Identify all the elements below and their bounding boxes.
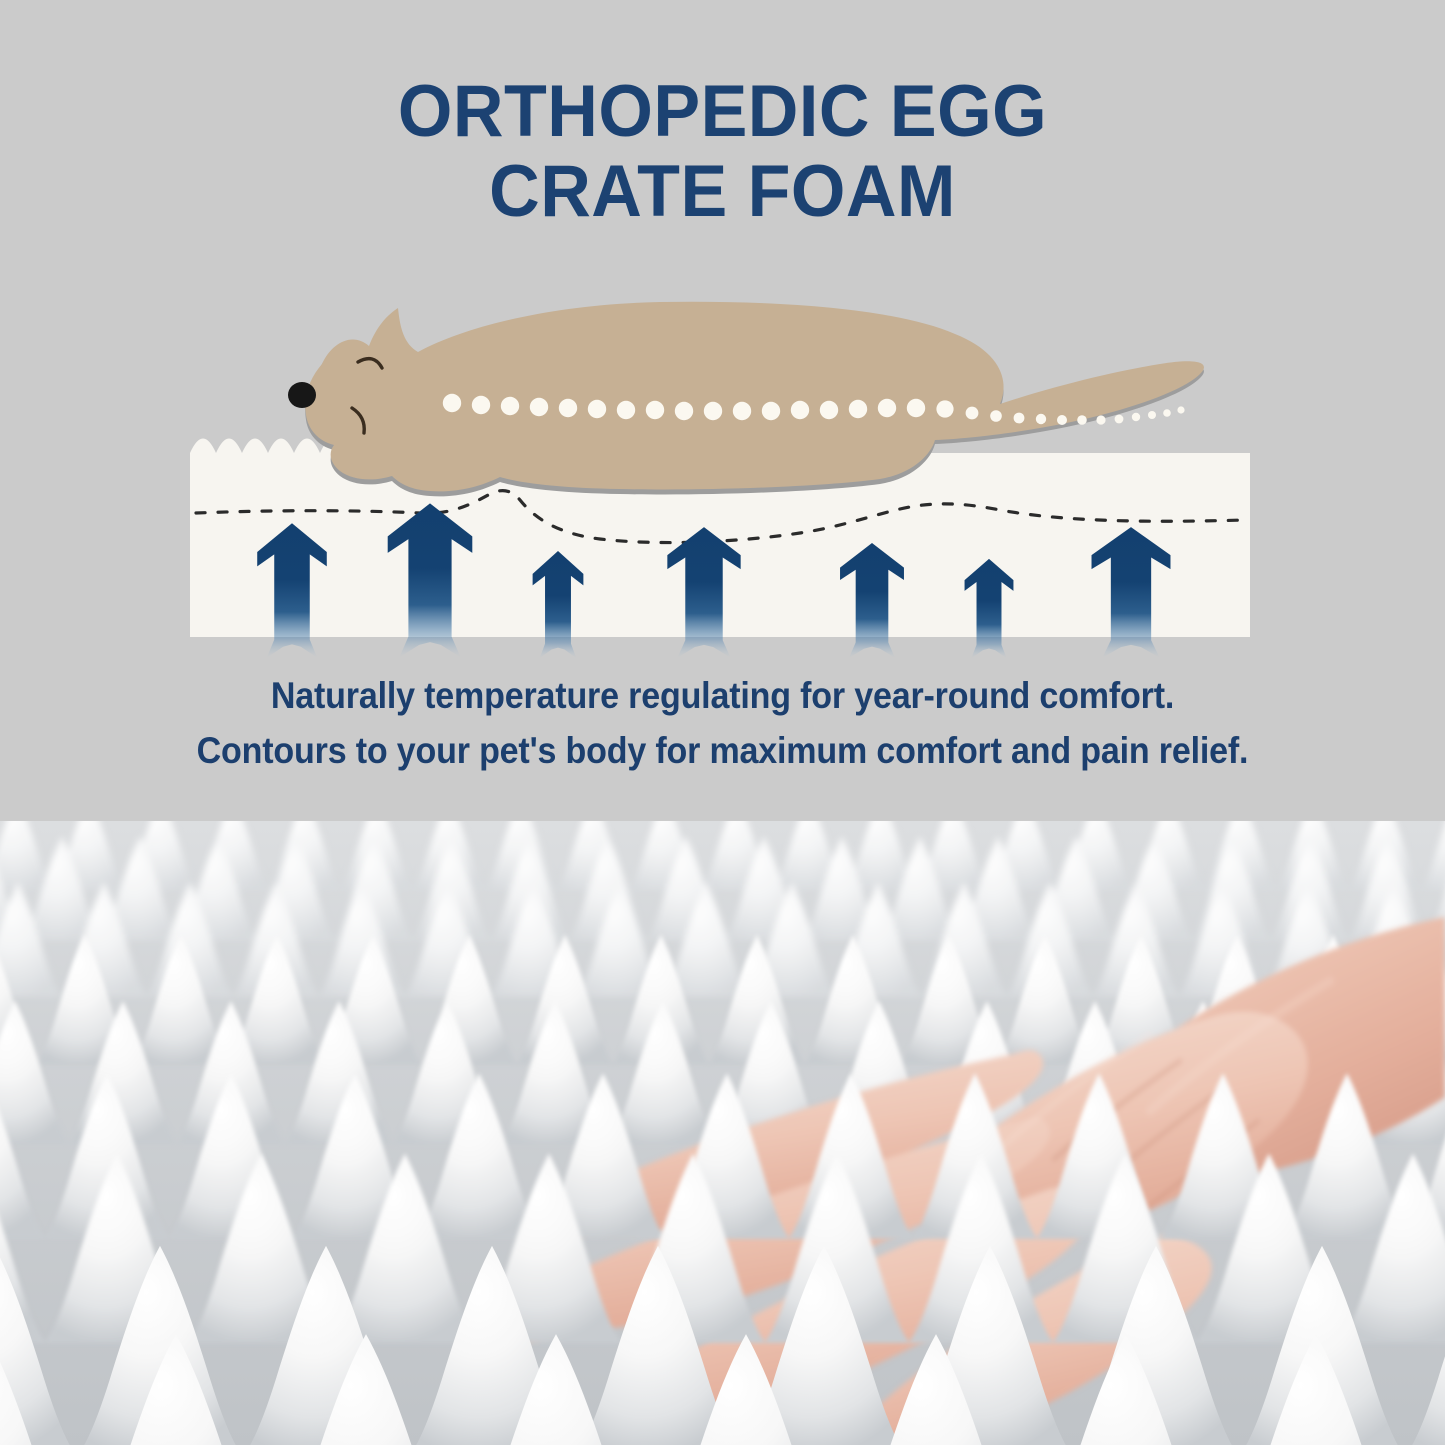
tagline-2: Contours to your pet's body for maximum … [58,723,1387,778]
title-line-2: CRATE FOAM [489,151,956,232]
product-infographic-page: ORTHOPEDIC EGGCRATE FOAM [0,0,1445,1445]
tagline-block: Naturally temperature regulating for yea… [0,668,1445,778]
dog-nose [288,382,316,408]
tagline-1: Naturally temperature regulating for yea… [58,668,1387,723]
infographic-top-panel: ORTHOPEDIC EGGCRATE FOAM [0,0,1445,821]
hand-pressing-egg-crate-foam-photo [0,821,1445,1445]
dog-on-foam-illustration [0,280,1445,660]
page-title: ORTHOPEDIC EGGCRATE FOAM [29,72,1416,232]
title-line-1: ORTHOPEDIC EGG [398,71,1047,152]
